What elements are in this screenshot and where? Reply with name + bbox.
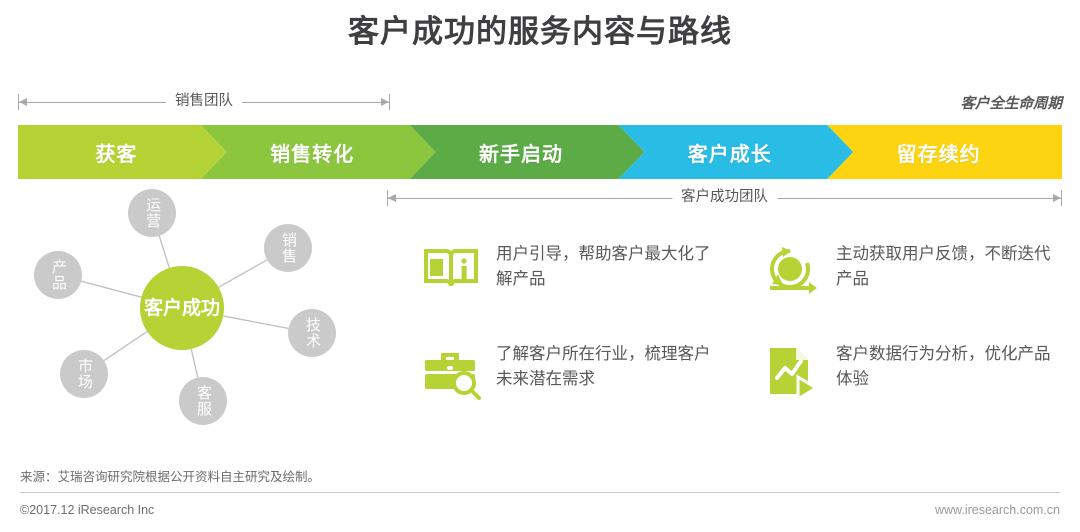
hub-node-label: 产品 bbox=[50, 259, 66, 291]
flow-stage-label: 留存续约 bbox=[897, 138, 981, 167]
flow-stage-label: 新手启动 bbox=[479, 138, 563, 167]
hub-node-marketing[interactable]: 市场 bbox=[60, 350, 108, 398]
page-title: 客户成功的服务内容与路线 bbox=[0, 6, 1080, 51]
lifecycle-label: 客户全生命周期 bbox=[961, 92, 1063, 113]
flow-stage[interactable]: 留存续约 bbox=[827, 125, 1062, 179]
bracket-cap-right bbox=[1061, 190, 1062, 206]
bracket-arrow-left-icon bbox=[388, 194, 396, 202]
bracket-customer-success-team: 客户成功团队 bbox=[387, 190, 1062, 206]
feature-item-text: 用户引导，帮助客户最大化了解产品 bbox=[496, 238, 711, 292]
feature-item: 了解客户所在行业，梳理客户未来潜在需求 bbox=[420, 338, 711, 400]
briefcase-search-icon bbox=[420, 338, 482, 400]
feature-item: 客户数据行为分析，优化产品体验 bbox=[760, 338, 1051, 400]
feature-item-text: 了解客户所在行业，梳理客户未来潜在需求 bbox=[496, 338, 711, 392]
hub-node-label: 市场 bbox=[76, 358, 92, 390]
flow-stage[interactable]: 新手启动 bbox=[410, 125, 645, 179]
open-book-info-icon bbox=[420, 238, 482, 300]
feature-item: 用户引导，帮助客户最大化了解产品 bbox=[420, 238, 711, 300]
hub-node-label: 客服 bbox=[195, 385, 211, 417]
hub-center-node[interactable]: 客户成功 bbox=[140, 266, 224, 350]
website-link[interactable]: www.iresearch.com.cn bbox=[935, 503, 1060, 517]
copyright-text: ©2017.12 iResearch Inc bbox=[20, 503, 154, 517]
bracket-sales-team: 销售团队 bbox=[18, 94, 390, 110]
flow-stage[interactable]: 销售转化 bbox=[201, 125, 436, 179]
flow-stage-label: 客户成长 bbox=[688, 138, 772, 167]
flow-stage-label: 销售转化 bbox=[270, 138, 354, 167]
bracket-arrow-right-icon bbox=[1053, 194, 1061, 202]
feature-item-text: 主动获取用户反馈，不断迭代产品 bbox=[836, 238, 1051, 292]
hub-node-product[interactable]: 产品 bbox=[34, 251, 82, 299]
flow-stage-label: 获客 bbox=[95, 138, 137, 167]
hub-node-label: 销售 bbox=[280, 232, 296, 264]
document-chart-play-icon bbox=[760, 338, 822, 400]
bracket-arrow-left-icon bbox=[19, 98, 27, 106]
bracket-arrow-right-icon bbox=[381, 98, 389, 106]
bracket-sales-team-label: 销售团队 bbox=[166, 93, 242, 110]
bracket-customer-success-team-label: 客户成功团队 bbox=[672, 189, 777, 206]
hub-node-sales[interactable]: 销售 bbox=[264, 224, 312, 272]
flow-stage[interactable]: 获客 bbox=[18, 125, 227, 179]
hub-node-label: 运营 bbox=[144, 197, 160, 229]
hub-node-operations[interactable]: 运营 bbox=[128, 189, 176, 237]
hub-center-label: 客户成功 bbox=[144, 297, 220, 320]
hub-node-support[interactable]: 客服 bbox=[179, 377, 227, 425]
feature-list: 用户引导，帮助客户最大化了解产品 主动获取用户反馈，不断迭代产品 了解客户所在行… bbox=[420, 238, 1070, 443]
refresh-cycle-icon bbox=[760, 238, 822, 300]
feature-item-text: 客户数据行为分析，优化产品体验 bbox=[836, 338, 1051, 392]
hub-node-label: 技术 bbox=[304, 317, 320, 349]
flow-stage[interactable]: 客户成长 bbox=[618, 125, 853, 179]
hub-spoke-diagram: 运营销售技术客服市场产品客户成功 bbox=[10, 185, 355, 440]
feature-item: 主动获取用户反馈，不断迭代产品 bbox=[760, 238, 1051, 300]
source-note: 来源：艾瑞咨询研究院根据公开资料自主研究及绘制。 bbox=[20, 466, 320, 485]
bracket-cap-right bbox=[389, 94, 390, 110]
hub-node-technology[interactable]: 技术 bbox=[288, 309, 336, 357]
footer-divider bbox=[20, 492, 1060, 493]
process-flow-band: 获客销售转化新手启动客户成长留存续约 bbox=[18, 125, 1062, 179]
